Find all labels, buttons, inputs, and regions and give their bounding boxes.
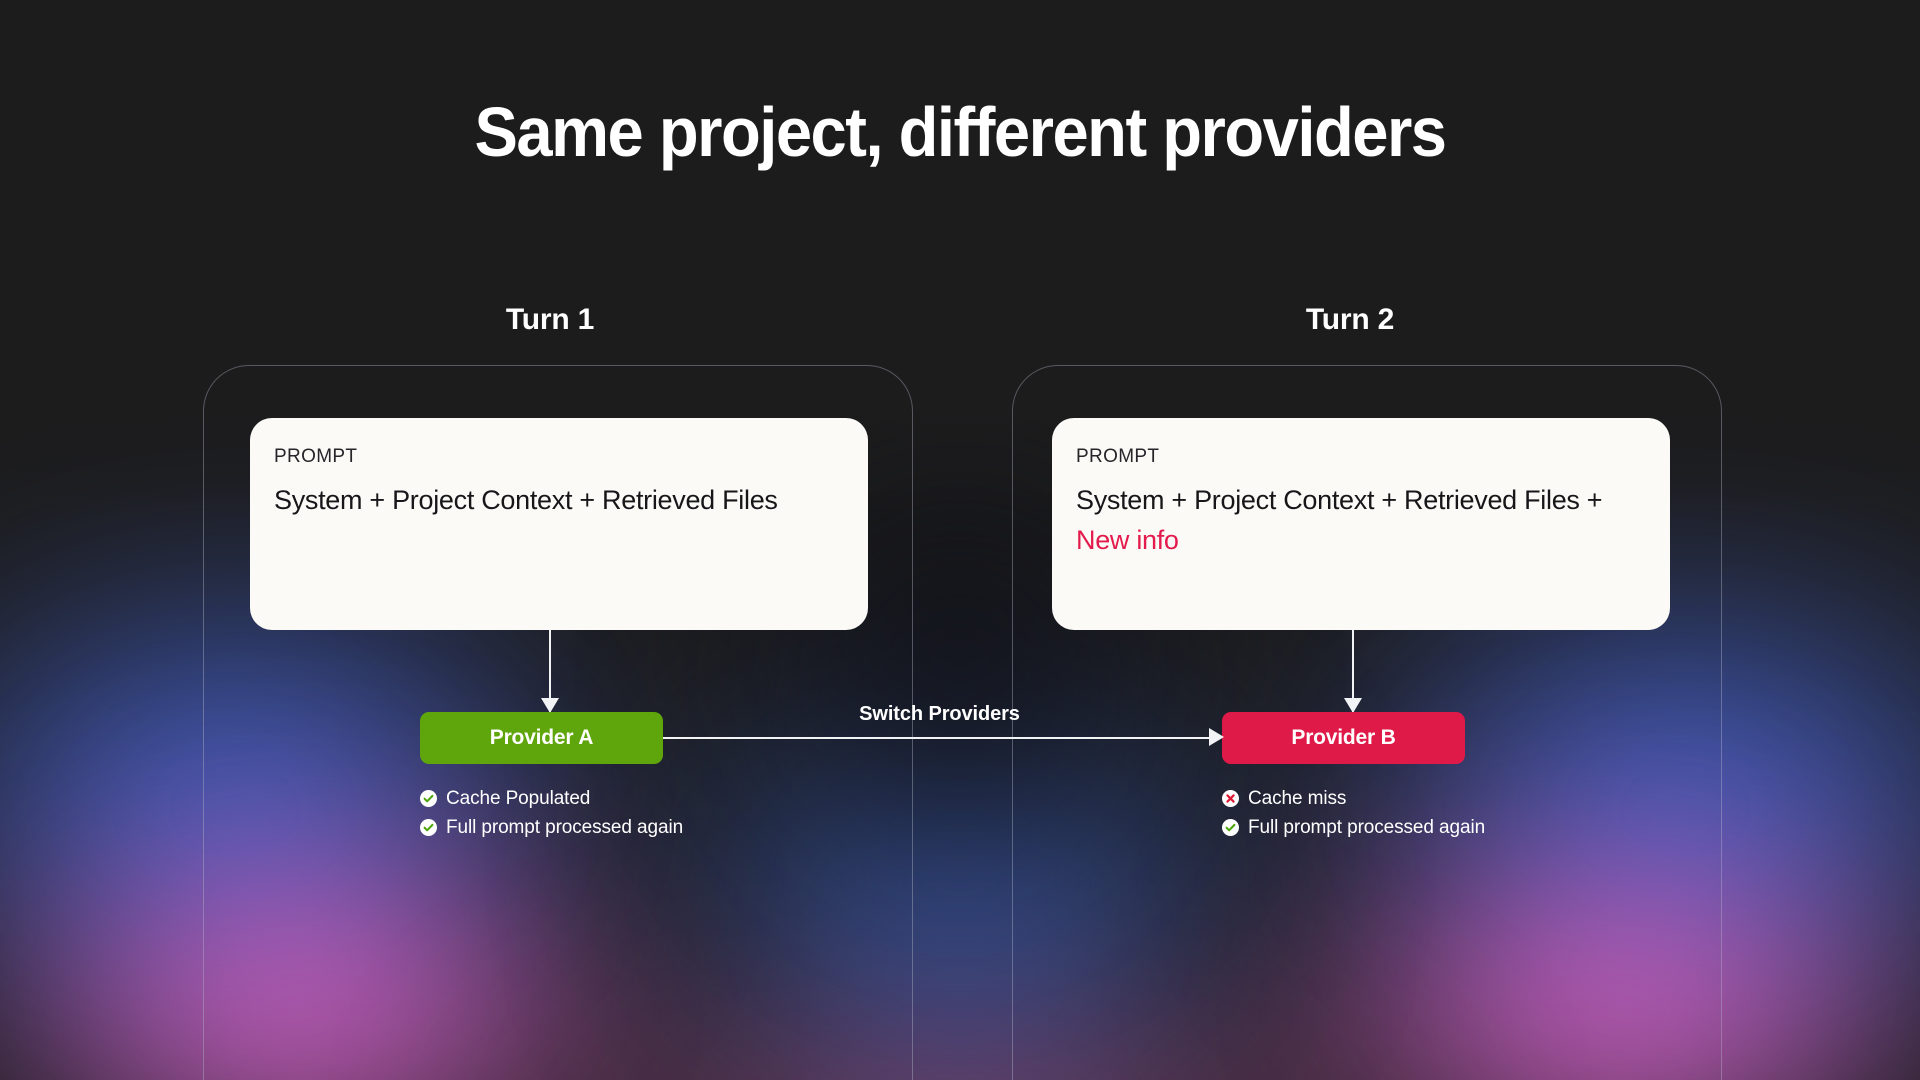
turn-1-prompt-card: PROMPT System + Project Context + Retrie… (250, 418, 868, 630)
switch-providers-line (663, 737, 1216, 739)
turn-1-label: Turn 1 (450, 303, 650, 337)
prompt-body-highlight: New info (1076, 525, 1179, 555)
prompt-kicker: PROMPT (1076, 446, 1159, 468)
provider-b-node[interactable]: Provider B (1222, 712, 1465, 764)
list-item: Full prompt processed again (420, 815, 683, 840)
prompt-body: System + Project Context + Retrieved Fil… (1076, 480, 1648, 560)
turn-2-label: Turn 2 (1250, 303, 1450, 337)
x-circle-icon (1222, 790, 1239, 807)
arrow-down-icon (549, 630, 551, 712)
list-item: Full prompt processed again (1222, 815, 1485, 840)
diagram-stage: Same project, different providers Turn 1… (0, 0, 1920, 1080)
arrow-right-icon (1209, 728, 1224, 746)
prompt-body-lead: System + Project Context + Retrieved Fil… (274, 485, 778, 515)
status-text: Cache Populated (446, 788, 590, 810)
page-title: Same project, different providers (67, 92, 1853, 172)
turn-2-prompt-card: PROMPT System + Project Context + Retrie… (1052, 418, 1670, 630)
check-circle-icon (420, 790, 437, 807)
arrow-down-icon (1352, 630, 1354, 712)
list-item: Cache Populated (420, 786, 683, 811)
status-text: Full prompt processed again (446, 817, 683, 839)
provider-a-node[interactable]: Provider A (420, 712, 663, 764)
check-circle-icon (420, 819, 437, 836)
status-text: Cache miss (1248, 788, 1346, 810)
prompt-body: System + Project Context + Retrieved Fil… (274, 480, 846, 520)
status-text: Full prompt processed again (1248, 817, 1485, 839)
prompt-kicker: PROMPT (274, 446, 357, 468)
turn-2-status-list: Cache miss Full prompt processed again (1222, 786, 1485, 844)
list-item: Cache miss (1222, 786, 1485, 811)
prompt-body-lead: System + Project Context + Retrieved Fil… (1076, 485, 1602, 515)
turn-1-status-list: Cache Populated Full prompt processed ag… (420, 786, 683, 844)
check-circle-icon (1222, 819, 1239, 836)
switch-providers-label: Switch Providers (663, 703, 1216, 726)
